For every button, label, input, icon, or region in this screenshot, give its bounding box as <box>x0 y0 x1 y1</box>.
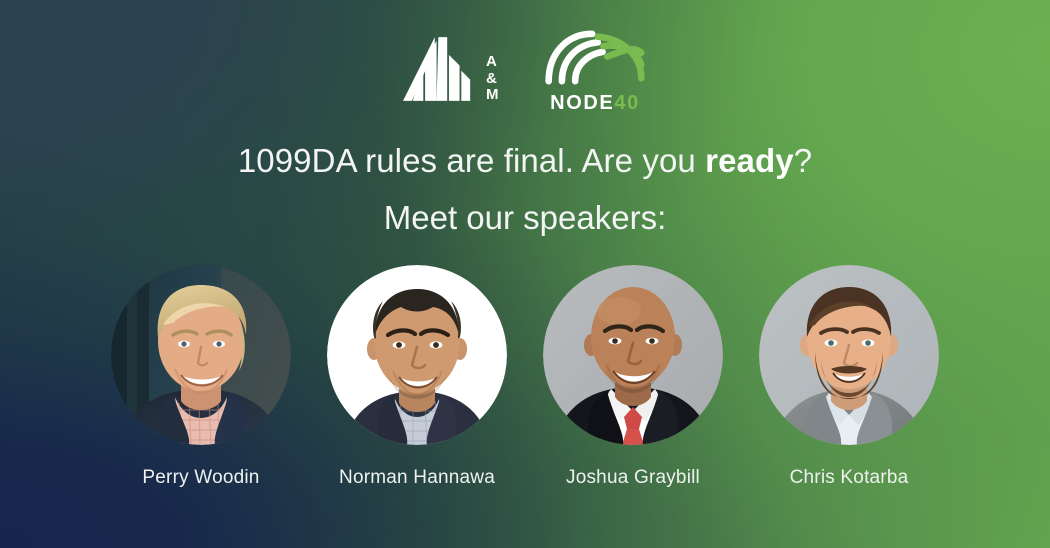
webinar-promo-banner: A & M NODE40 1 <box>0 0 1050 548</box>
am-building-mark-icon <box>403 35 479 108</box>
headline-part1: 1099DA rules are final. Are you <box>238 142 705 179</box>
headline: 1099DA rules are final. Are you ready? <box>0 141 1050 181</box>
speaker-name: Joshua Graybill <box>566 467 700 489</box>
am-letter-m: M <box>486 87 499 104</box>
speakers-row: Perry Woodin <box>0 265 1050 489</box>
node40-arcs-icon <box>543 30 647 90</box>
headshot-perry-woodin <box>111 265 291 445</box>
speaker-name: Norman Hannawa <box>339 467 495 489</box>
headline-part2: ? <box>794 142 812 179</box>
speaker-name: Perry Woodin <box>142 467 259 489</box>
speaker-card: Joshua Graybill <box>543 265 723 489</box>
alvarez-marsal-logo: A & M <box>403 33 499 109</box>
logo-row: A & M NODE40 <box>0 26 1050 116</box>
subheadline: Meet our speakers: <box>0 198 1050 238</box>
headshot-chris-kotarba <box>759 265 939 445</box>
headshot-norman-hannawa <box>327 265 507 445</box>
am-letter-a: A <box>486 54 497 71</box>
speaker-card: Perry Woodin <box>111 265 291 489</box>
speaker-card: Chris Kotarba <box>759 265 939 489</box>
am-wordmark: A & M <box>486 38 499 104</box>
node40-wordmark: NODE40 <box>550 93 640 113</box>
am-letter-amp: & <box>486 71 497 88</box>
headshot-joshua-graybill <box>543 265 723 445</box>
node40-number: 40 <box>614 92 639 114</box>
headline-emphasis: ready <box>705 142 794 179</box>
node40-word: NODE <box>550 92 614 114</box>
speaker-card: Norman Hannawa <box>327 265 507 489</box>
speaker-name: Chris Kotarba <box>790 467 909 489</box>
node40-logo: NODE40 <box>543 31 647 111</box>
